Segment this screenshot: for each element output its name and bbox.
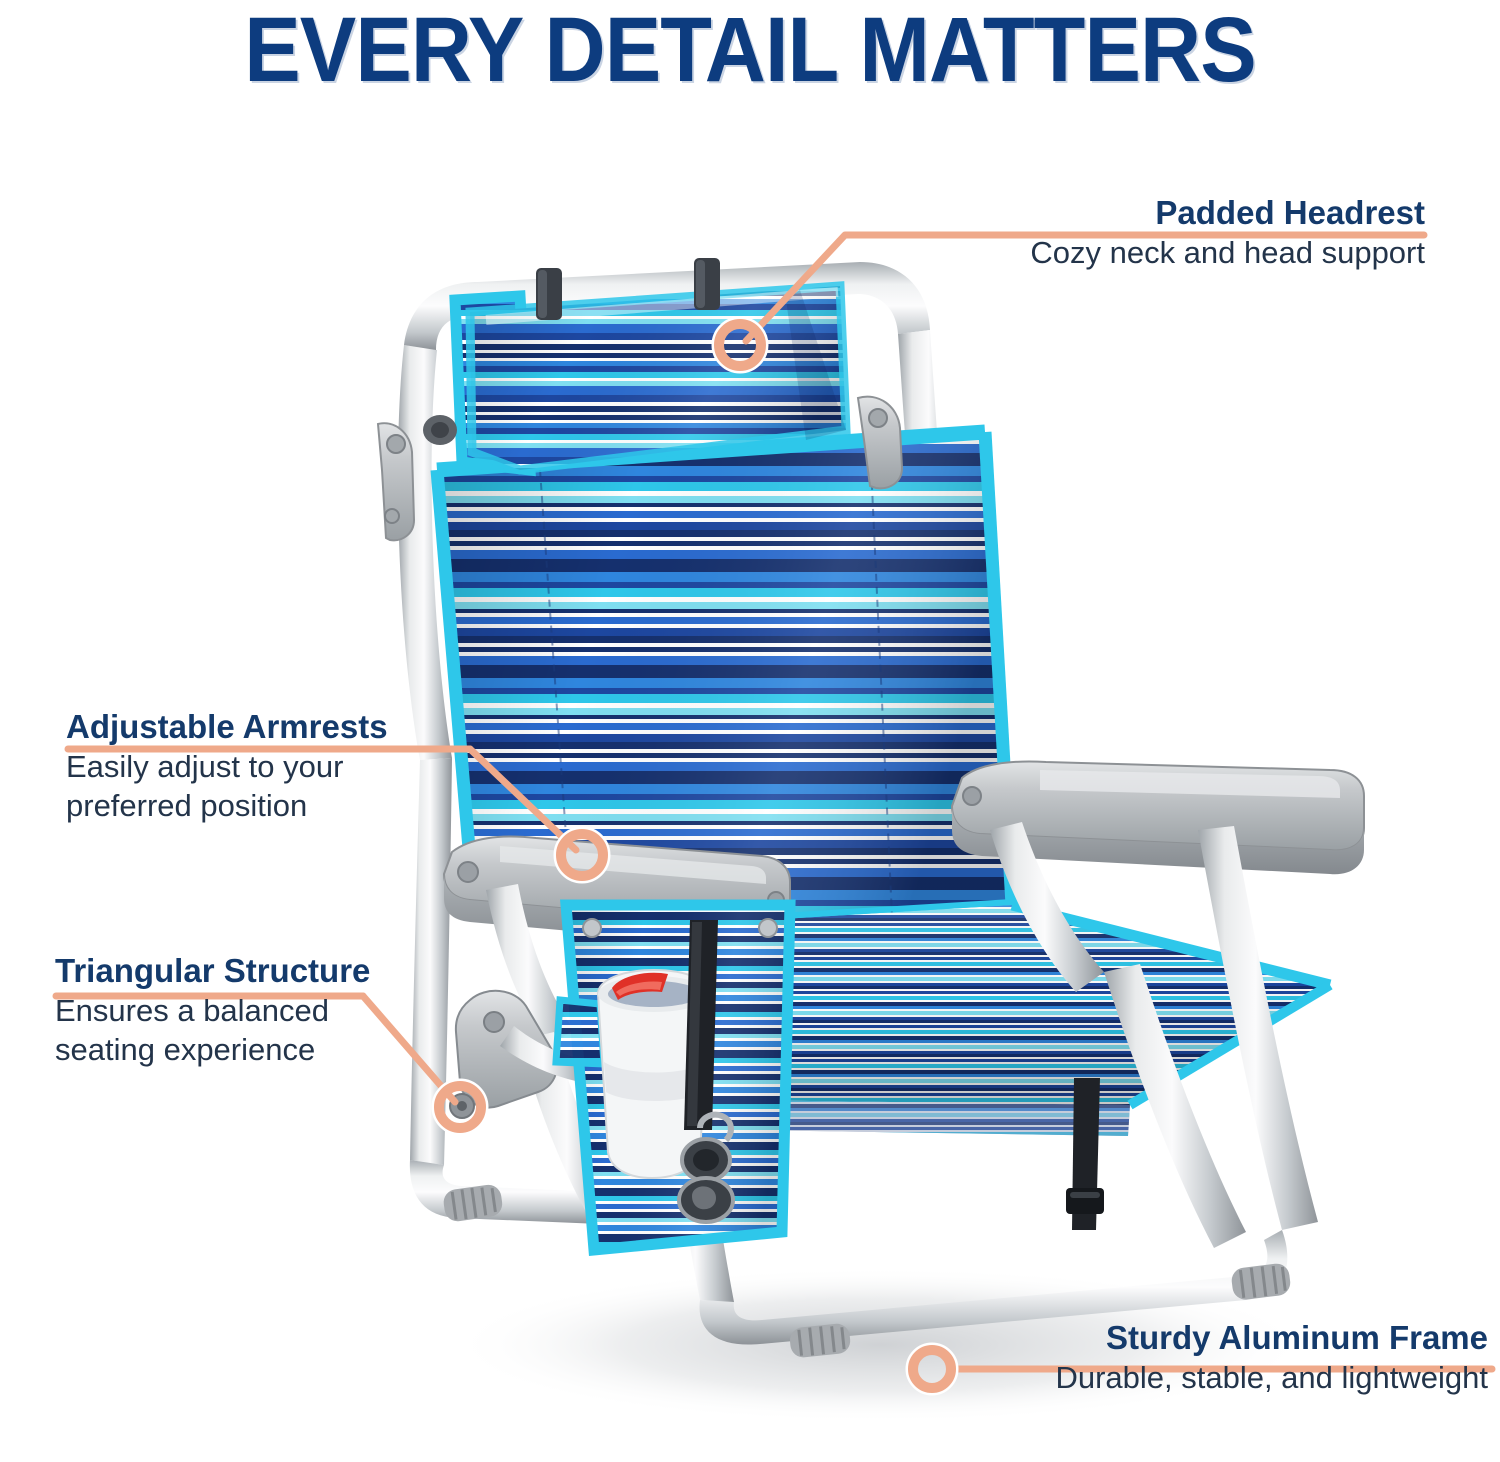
callout-title: Sturdy Aluminum Frame	[848, 1318, 1488, 1358]
callout-description: Cozy neck and head support	[785, 233, 1425, 272]
callout-adjustable-armrests: Adjustable Armrests Easily adjust to you…	[66, 707, 536, 825]
callout-sturdy-aluminum-frame: Sturdy Aluminum Frame Durable, stable, a…	[848, 1318, 1488, 1397]
callout-title: Triangular Structure	[55, 951, 525, 991]
callout-title: Adjustable Armrests	[66, 707, 536, 747]
callout-title: Padded Headrest	[785, 193, 1425, 233]
callout-description: Easily adjust to your preferred position	[66, 747, 536, 825]
callout-triangular-structure: Triangular Structure Ensures a balanced …	[55, 951, 525, 1069]
callout-padded-headrest: Padded Headrest Cozy neck and head suppo…	[785, 193, 1425, 272]
callout-description: Durable, stable, and lightweight	[848, 1358, 1488, 1397]
callout-description: Ensures a balanced seating experience	[55, 991, 525, 1069]
infographic-canvas: EVERY DETAIL MATTERS	[0, 0, 1500, 1462]
